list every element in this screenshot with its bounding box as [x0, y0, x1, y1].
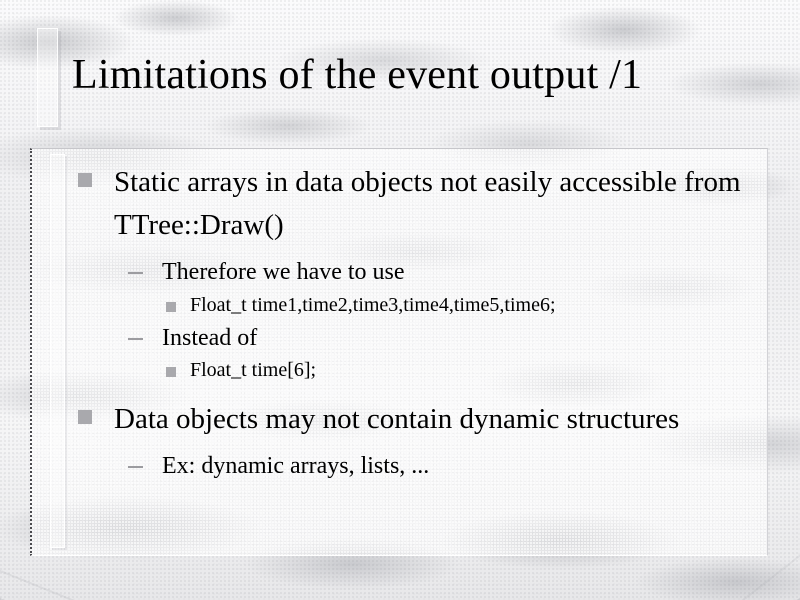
- list-item: Ex: dynamic arrays, lists, ...: [78, 449, 759, 484]
- dash-bullet-icon: [128, 272, 143, 274]
- list-item: Data objects may not contain dynamic str…: [78, 398, 759, 441]
- dash-bullet-icon: [128, 466, 143, 468]
- list-item: Therefore we have to use: [78, 255, 759, 290]
- list-item-label: Static arrays in data objects not easily…: [114, 161, 759, 247]
- list-item-label: Therefore we have to use: [162, 255, 759, 290]
- presentation-slide: Limitations of the event output /1 Stati…: [0, 0, 800, 600]
- list-item: Float_t time[6];: [78, 356, 759, 385]
- content-frame: Static arrays in data objects not easily…: [30, 148, 768, 556]
- list-item-label: Ex: dynamic arrays, lists, ...: [162, 449, 759, 484]
- page-title: Limitations of the event output /1: [72, 52, 772, 99]
- square-bullet-icon: [78, 173, 92, 187]
- bullet-list: Static arrays in data objects not easily…: [78, 161, 759, 485]
- small-square-bullet-icon: [166, 302, 176, 312]
- spacer: [78, 386, 759, 398]
- list-item-label: Float_t time1,time2,time3,time4,time5,ti…: [190, 291, 759, 320]
- small-square-bullet-icon: [166, 367, 176, 377]
- square-bullet-icon: [78, 410, 92, 424]
- dash-bullet-icon: [128, 338, 143, 340]
- list-item-label: Float_t time[6];: [190, 356, 759, 385]
- list-item: Instead of: [78, 321, 759, 356]
- list-item: Float_t time1,time2,time3,time4,time5,ti…: [78, 291, 759, 320]
- list-item-label: Instead of: [162, 321, 759, 356]
- title-accent-bar: [37, 28, 58, 127]
- list-item-label: Data objects may not contain dynamic str…: [114, 398, 759, 441]
- body-accent-bar: [50, 154, 65, 548]
- list-item: Static arrays in data objects not easily…: [78, 161, 759, 247]
